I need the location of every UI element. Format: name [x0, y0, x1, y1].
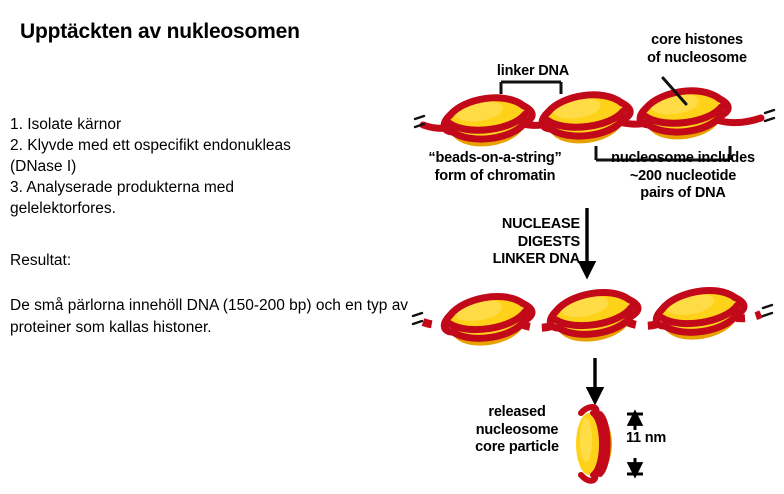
- label-beads-on-a-string: “beads-on-a-string” form of chromatin: [400, 150, 590, 185]
- nucleosome-bead: [440, 287, 536, 352]
- nucleosome-bead: [441, 90, 536, 152]
- nucleosome-bead: [546, 283, 642, 348]
- dna-break-ticks-right: [763, 305, 772, 316]
- label-linker-dna: linker DNA: [473, 63, 593, 81]
- page-title: Upptäckten av nukleosomen: [20, 20, 300, 44]
- linker-dna-bracket: [501, 82, 561, 94]
- result-label: Resultat:: [10, 252, 71, 270]
- procedure-steps-list: 1. Isolate kärnor 2. Klyvde med ett ospe…: [10, 114, 400, 219]
- digested-chromatin-row: [413, 281, 772, 352]
- procedure-step-3: 3. Analyserade produkterna med: [10, 177, 400, 198]
- label-core-histones: core histones of nucleosome: [610, 32, 784, 67]
- nucleosome-bead: [637, 83, 732, 145]
- dna-break-ticks-right: [765, 110, 774, 121]
- dna-break-ticks-left: [413, 313, 422, 324]
- label-nucleosome-includes: nucleosome includes ~200 nucleotide pair…: [583, 150, 783, 203]
- label-released-core-particle: released nucleosome core particle: [443, 404, 591, 457]
- procedure-step-3-cont: gelelektorfores.: [10, 198, 400, 219]
- nucleosome-bead: [539, 87, 634, 149]
- nucleosome-bead: [652, 281, 748, 346]
- label-nuclease-digests-linker-dna: NUCLEASE DIGESTS LINKER DNA: [435, 216, 580, 269]
- nucleosome-diagram: linker DNA core histones of nucleosome “…: [405, 0, 784, 494]
- procedure-step-2: 2. Klyvde med ett ospecifikt endonukleas: [10, 135, 400, 156]
- procedure-step-2-cont: (DNase I): [10, 156, 400, 177]
- slide-canvas: Upptäckten av nukleosomen 1. Isolate kär…: [0, 0, 784, 494]
- beads-on-a-string-row: [415, 83, 774, 152]
- label-dimension-11nm: 11 nm: [608, 430, 684, 448]
- result-text: De små pärlorna innehöll DNA (150-200 bp…: [10, 295, 410, 339]
- dna-break-ticks-left: [415, 116, 424, 127]
- procedure-step-1: 1. Isolate kärnor: [10, 114, 400, 135]
